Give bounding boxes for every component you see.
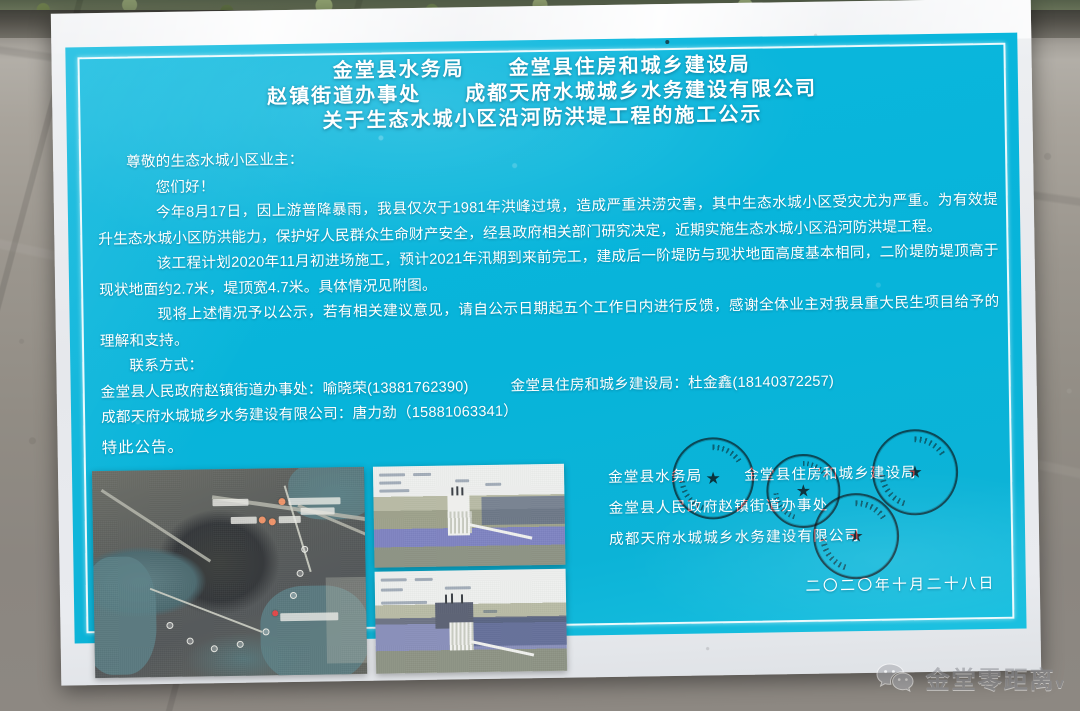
signature-block: 金堂县水务局金堂县住房和城乡建设局 金堂县人民政府赵镇街道办事处 成都天府水城城… — [600, 457, 1002, 599]
contact-street-office: 金堂县人民政府赵镇街道办事处：喻晓荣(13881762390) — [101, 379, 469, 401]
blue-panel: 金堂县水务局 金堂县住房和城乡建设局 赵镇街道办事处 成都天府水城城乡水务建设有… — [65, 33, 1026, 644]
watermark: 金堂零距离v — [875, 660, 1064, 695]
notice-body: 尊敬的生态水城小区业主： 您们好！ 今年8月17日，因上游普降暴雨，我县仅次于1… — [97, 137, 1001, 432]
watermark-suffix: v — [1056, 675, 1064, 692]
watermark-label: 金堂零距离 — [926, 667, 1056, 694]
section-diagram-top — [373, 464, 566, 568]
notice-title: 金堂县水务局 金堂县住房和城乡建设局 赵镇街道办事处 成都天府水城城乡水务建设有… — [66, 49, 1019, 139]
wechat-icon — [875, 662, 915, 694]
contact-housing-bureau: 金堂县住房和城乡建设局：杜金鑫(18140372257) — [510, 373, 834, 394]
signer-housing-bureau: 金堂县住房和城乡建设局 — [744, 465, 917, 484]
signature-row-3: 成都天府水城城乡水务建设有限公司 — [601, 519, 1001, 556]
watermark-text: 金堂零距离v — [926, 660, 1064, 695]
closing-statement: 特此公告。 — [101, 435, 184, 458]
aerial-map-photo — [92, 467, 367, 678]
section-diagram-bottom — [375, 569, 568, 674]
signer-water-bureau: 金堂县水务局 — [608, 469, 702, 486]
notice-board: 金堂县水务局 金堂县住房和城乡建设局 赵镇街道办事处 成都天府水城城乡水务建设有… — [51, 0, 1041, 686]
